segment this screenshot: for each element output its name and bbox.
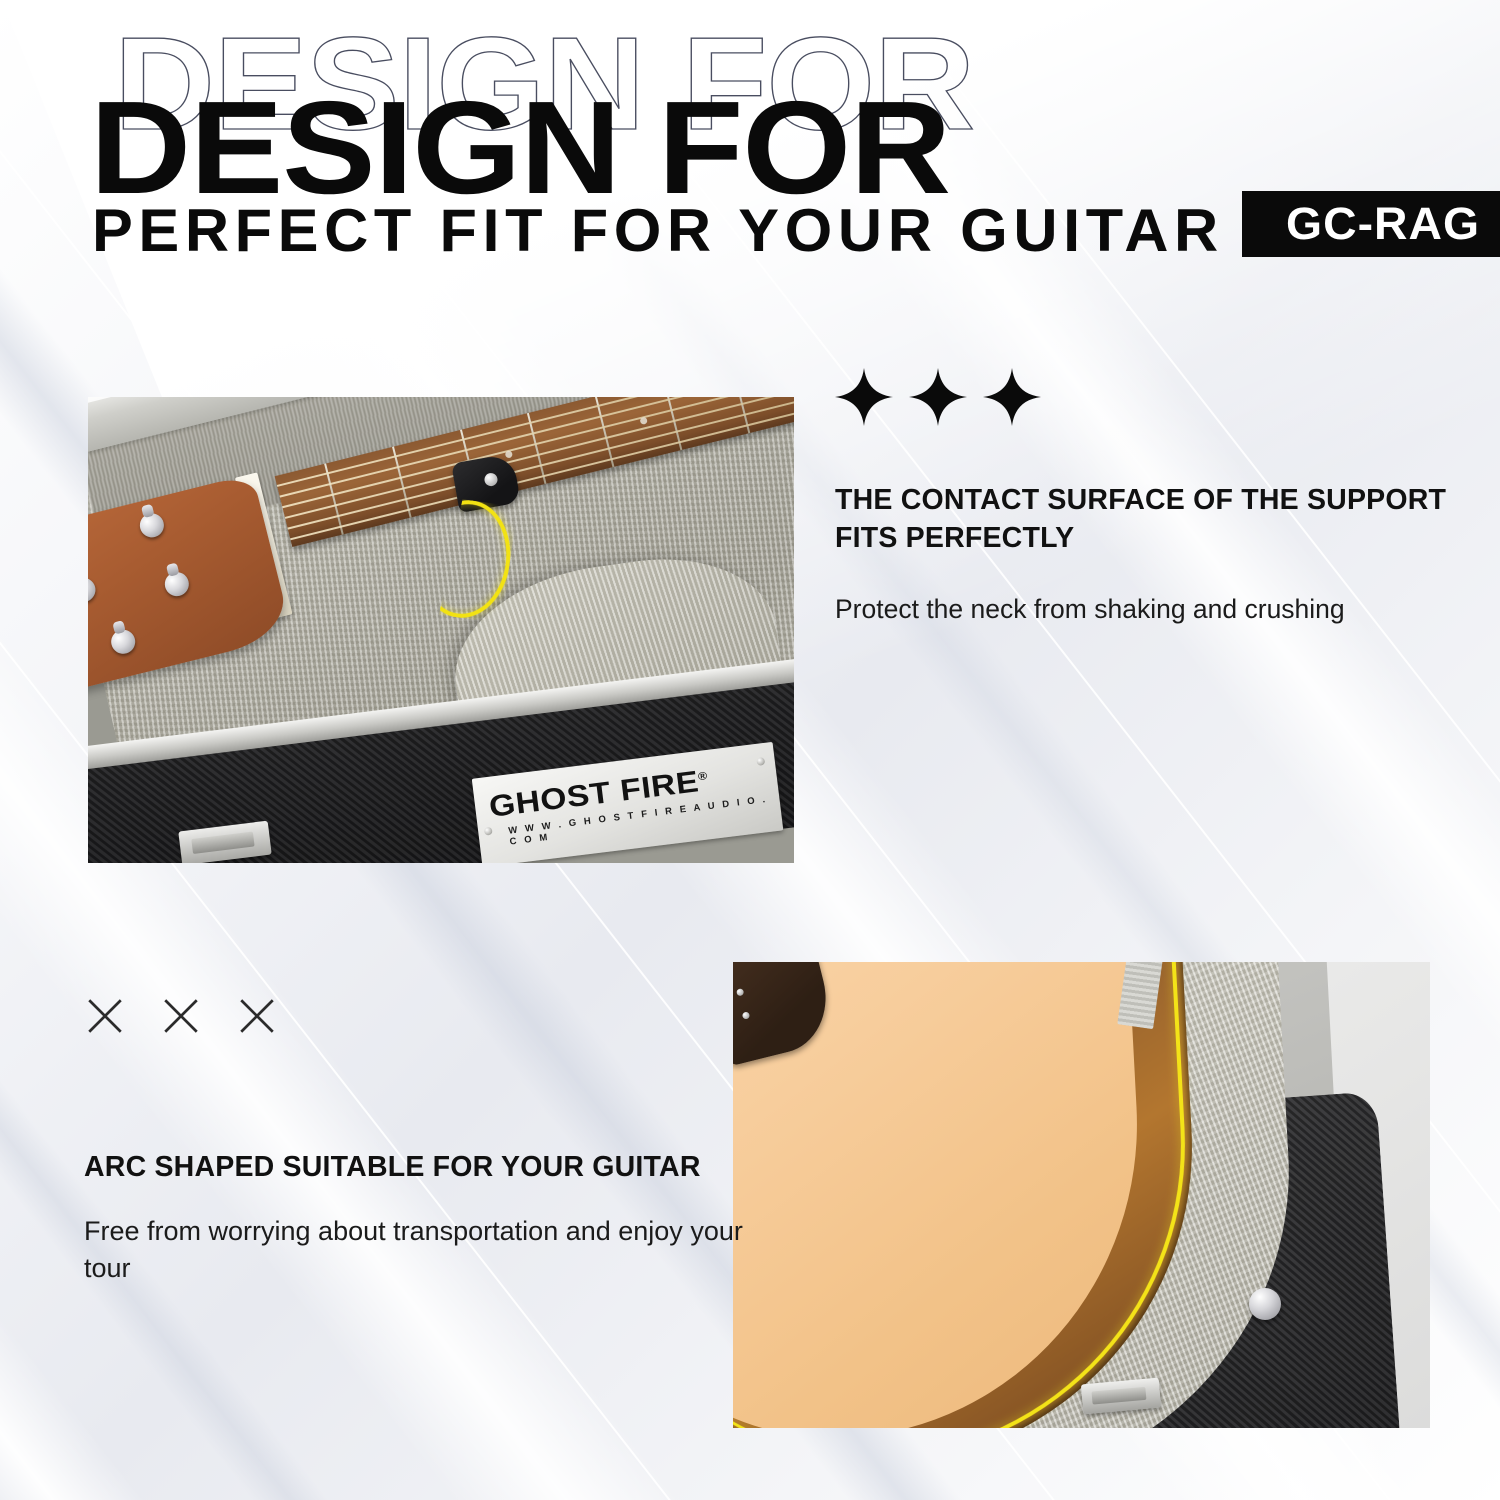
- x-mark-icon: [236, 995, 278, 1037]
- sparkle-star-icon: [909, 368, 967, 426]
- case-foot-stud: [1249, 1288, 1281, 1320]
- x-mark-icon-group: [84, 995, 744, 1037]
- photo-neck-in-case: GHOST FIRE® W W W . G H O S T F I R E A …: [88, 397, 794, 863]
- poster-stage: DESIGN FOR DESIGN FOR PERFECT FIT FOR YO…: [0, 0, 1500, 1500]
- feature-description: Protect the neck from shaking and crushi…: [835, 591, 1465, 628]
- x-mark-icon: [160, 995, 202, 1037]
- feature-title: ARC SHAPED SUITABLE FOR YOUR GUITAR: [84, 1149, 744, 1187]
- sparkle-star-icon: [983, 368, 1041, 426]
- sparkle-star-icon: [835, 368, 893, 426]
- headline-subtitle: PERFECT FIT FOR YOUR GUITAR: [92, 196, 1224, 265]
- sku-badge-label: GC-RAG: [1286, 198, 1480, 250]
- feature-title: THE CONTACT SURFACE OF THE SUPPORT FITS …: [835, 482, 1465, 557]
- sku-badge: GC-RAG: [1242, 191, 1500, 257]
- feature-block-arc-shaped: ARC SHAPED SUITABLE FOR YOUR GUITAR Free…: [84, 995, 744, 1287]
- photo-body-in-case: [733, 962, 1430, 1428]
- page-title: DESIGN FOR DESIGN FOR: [90, 26, 1090, 216]
- feature-description: Free from worrying about transportation …: [84, 1213, 744, 1288]
- sparkle-icon-group: [835, 368, 1465, 426]
- x-mark-icon: [84, 995, 126, 1037]
- headline-main: DESIGN FOR: [90, 82, 950, 214]
- feature-block-contact-surface: THE CONTACT SURFACE OF THE SUPPORT FITS …: [835, 368, 1465, 628]
